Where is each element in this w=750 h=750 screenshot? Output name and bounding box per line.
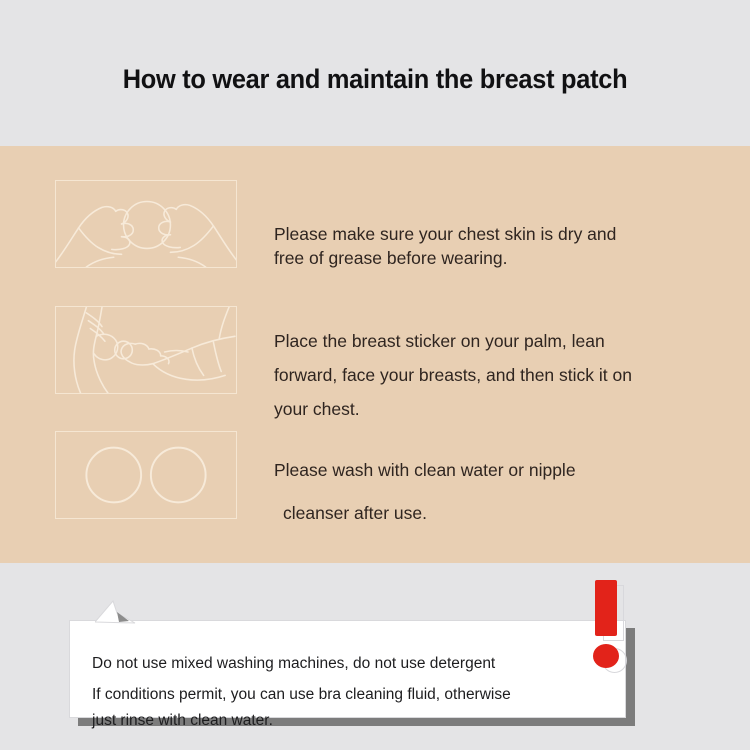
exclamation-bar xyxy=(595,580,617,636)
warning-line-1: Do not use mixed washing machines, do no… xyxy=(92,651,602,677)
infographic-page: How to wear and maintain the breast patc… xyxy=(0,0,750,750)
exclamation-dot xyxy=(593,644,619,668)
red-exclamation-mark-icon xyxy=(583,578,643,678)
step-3-line-1: Please wash with clean water or nipple xyxy=(274,460,576,480)
warning-line-2: If conditions permit, you can use bra cl… xyxy=(92,682,602,708)
two-circular-patches-icon xyxy=(55,431,237,519)
warning-callout: Do not use mixed washing machines, do no… xyxy=(68,600,638,730)
step-1-line-2: free of grease before wearing. xyxy=(274,248,507,268)
two-hands-holding-patch-icon xyxy=(55,180,237,268)
step-3-line-2: cleanser after use. xyxy=(274,492,427,535)
warning-callout-box: Do not use mixed washing machines, do no… xyxy=(69,620,626,718)
instruction-step-2-text: Place the breast sticker on your palm, l… xyxy=(274,324,719,426)
step-1-line-1: Please make sure your chest skin is dry … xyxy=(274,224,616,244)
instruction-step-1-text: Please make sure your chest skin is dry … xyxy=(274,222,704,270)
warning-line-3: just rinse with clean water. xyxy=(92,708,602,734)
speech-bubble-tail-icon xyxy=(95,599,163,625)
header-band: How to wear and maintain the breast patc… xyxy=(0,0,750,146)
step-2-line-2: forward, face your breasts, and then sti… xyxy=(274,365,632,385)
instruction-band: Please make sure your chest skin is dry … xyxy=(0,146,750,563)
step-2-line-3: your chest. xyxy=(274,399,360,419)
step-2-line-1: Place the breast sticker on your palm, l… xyxy=(274,331,605,351)
warning-callout-text: Do not use mixed washing machines, do no… xyxy=(92,651,602,734)
hand-applying-patch-to-chest-icon xyxy=(55,306,237,394)
page-title: How to wear and maintain the breast patc… xyxy=(23,64,728,95)
instruction-step-3-text: Please wash with clean water or nipple c… xyxy=(274,449,694,535)
